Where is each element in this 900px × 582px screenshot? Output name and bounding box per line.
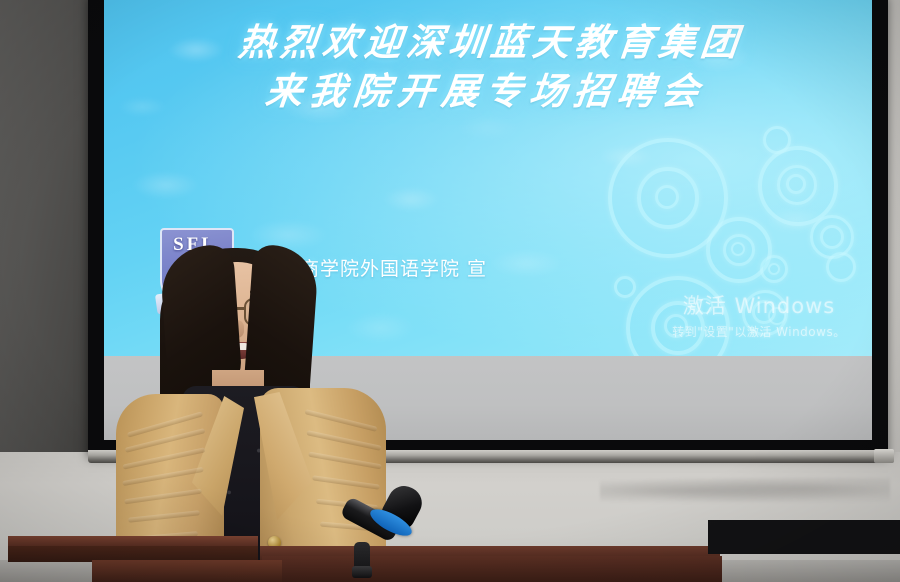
decor-ring-2: [655, 185, 679, 209]
podium-step-lower: [92, 560, 282, 582]
photo-scene: 热烈欢迎深圳蓝天教育集团 来我院开展专场招聘会 SFL 广州商学院外国语学院 宣…: [0, 0, 900, 582]
microphone-stand-base: [352, 566, 372, 578]
decor-ring-6: [763, 126, 791, 154]
wall-left: [0, 0, 100, 470]
decor-ring-12: [826, 252, 856, 282]
decor-ring-14: [768, 263, 780, 275]
decor-ring-18: [614, 276, 636, 298]
screen-roller-cap: [874, 449, 894, 463]
decor-ring-11: [820, 225, 844, 249]
windows-activation-subtitle: 转到"设置"以激活 Windows。: [649, 323, 869, 340]
decor-ring-9: [731, 242, 745, 256]
slide-title-line-1: 热烈欢迎深圳蓝天教育集团: [104, 18, 872, 67]
slide-title: 热烈欢迎深圳蓝天教育集团 来我院开展专场招聘会: [104, 18, 872, 116]
dark-object-on-podium: [708, 520, 900, 554]
wall-smudge: [600, 478, 890, 504]
windows-activation-title: 激活 Windows: [649, 290, 869, 320]
microphone: [330, 486, 450, 582]
windows-activation-watermark: 激活 Windows 转到"设置"以激活 Windows。: [649, 290, 869, 340]
slide-title-line-2: 来我院开展专场招聘会: [104, 67, 872, 116]
decor-ring-5: [786, 174, 806, 194]
